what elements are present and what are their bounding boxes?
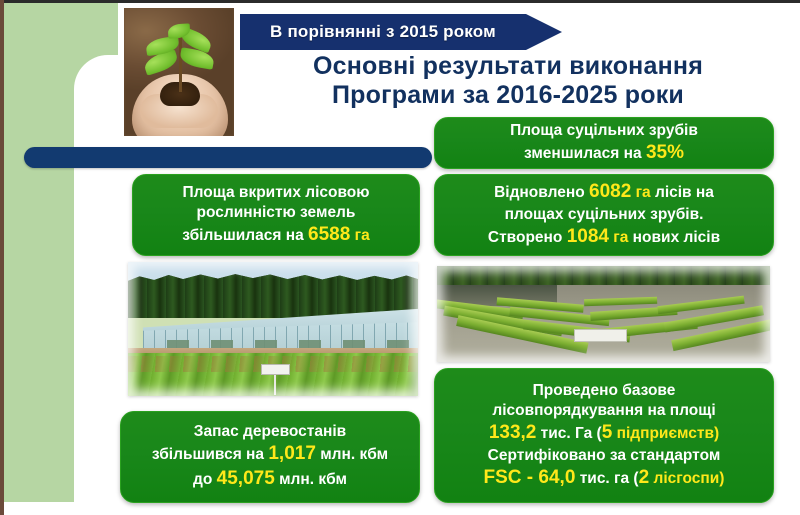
stat-line: площах суцільних зрубів.	[505, 205, 704, 225]
stat-text: Створено	[488, 229, 567, 246]
stat-text: збільшився на	[152, 446, 268, 463]
stat-text: Відновлено	[494, 184, 589, 201]
stat-unit: млн. кбм	[316, 446, 388, 463]
presentation-slide: В порівнянні з 2015 роком Основні резуль…	[0, 0, 800, 515]
stat-value: 45,075	[217, 468, 275, 489]
stat-box-restored-forests: Відновлено 6082 га лісів на площах суціл…	[434, 174, 774, 256]
seedling-stem	[179, 34, 182, 92]
background-treeline	[437, 266, 770, 287]
stat-line: Площа вкритих лісовою	[182, 183, 369, 203]
stat-line: збільшився на 1,017 млн. кбм	[152, 442, 388, 467]
stat-line: FSC - 64,0 тис. га (2 лісгоспи)	[484, 466, 725, 491]
stat-line: 133,2 тис. Га (5 підприємств)	[489, 421, 719, 446]
comparison-banner-body: В порівнянні з 2015 роком	[240, 14, 526, 50]
seedling-rows-photo	[437, 266, 770, 362]
stat-value: FSC - 64,0	[484, 467, 576, 488]
stat-text: підприємств)	[612, 425, 719, 442]
seedling-photo	[124, 8, 234, 136]
stat-text: зменшилася на	[524, 145, 646, 162]
page-title: Основні результати виконання Програми за…	[238, 52, 778, 110]
greenhouse-nursery-photo	[128, 262, 418, 396]
stat-value: 1,017	[268, 443, 316, 464]
stat-value: 133,2	[489, 422, 537, 443]
stat-box-forest-inventory: Проведено базове лісовпорядкування на пл…	[434, 368, 774, 503]
stat-unit: га	[350, 227, 369, 244]
comparison-banner-label: В порівнянні з 2015 роком	[270, 22, 496, 42]
stat-box-timber-stock: Запас деревостанів збільшився на 1,017 м…	[120, 411, 420, 503]
stat-text: лісгоспи)	[649, 470, 724, 487]
field-sign-post	[274, 373, 276, 394]
stat-box-forested-land: Площа вкритих лісовою рослинністю земель…	[132, 174, 420, 256]
stat-count: 2	[639, 467, 650, 488]
stat-line: Проведено базове	[533, 381, 676, 401]
field-sign	[574, 329, 627, 341]
stat-text: Сертифіковано за стандартом	[488, 447, 721, 464]
banner-arrow-icon	[526, 14, 562, 50]
top-edge-strip	[0, 0, 800, 3]
stat-text: до	[193, 471, 217, 488]
stat-line: Сертифіковано за стандартом	[488, 446, 721, 466]
stat-value: 6082	[589, 181, 631, 202]
navy-divider-bar	[24, 147, 432, 168]
stat-unit: га	[631, 184, 650, 201]
stat-count: 5	[602, 422, 613, 443]
stat-text: збільшилася на	[182, 227, 308, 244]
stat-line: лісовпорядкування на площі	[492, 401, 715, 421]
stat-text: площах суцільних зрубів.	[505, 206, 704, 223]
stat-text: лісів на	[651, 184, 714, 201]
forest-treeline	[128, 273, 418, 319]
stat-text: Запас деревостанів	[194, 423, 346, 440]
stat-box-clearcut-area: Площа суцільних зрубів зменшилася на 35%	[434, 117, 774, 169]
stat-line: Відновлено 6082 га лісів на	[494, 180, 714, 205]
stat-unit: га	[609, 229, 628, 246]
stat-text: нових лісів	[628, 229, 720, 246]
stat-line: до 45,075 млн. кбм	[193, 467, 347, 492]
stat-text: Проведено базове	[533, 382, 676, 399]
stat-value: 6588	[308, 224, 350, 245]
page-title-line-2: Програми за 2016-2025 роки	[238, 81, 778, 110]
stat-text: лісовпорядкування на площі	[492, 402, 715, 419]
stat-text: Площа вкритих лісовою	[182, 184, 369, 201]
comparison-banner: В порівнянні з 2015 роком	[240, 14, 562, 50]
stat-value: 35%	[646, 142, 684, 163]
page-title-line-1: Основні результати виконання	[238, 52, 778, 81]
stat-value: 1084	[567, 226, 609, 247]
stat-line: Площа суцільних зрубів	[510, 122, 698, 141]
stat-text: Площа суцільних зрубів	[510, 122, 698, 139]
stat-unit: млн. кбм	[275, 471, 347, 488]
stat-line: рослинністю земель	[197, 203, 356, 223]
stat-text: рослинністю земель	[197, 204, 356, 221]
stat-line: Запас деревостанів	[194, 422, 346, 442]
stat-unit: тис. Га (	[536, 425, 601, 442]
field-sign	[261, 364, 290, 375]
stat-line: Створено 1084 га нових лісів	[488, 225, 720, 250]
stat-line: зменшилася на 35%	[524, 141, 684, 164]
stat-unit: тис. га (	[575, 470, 638, 487]
stat-line: збільшилася на 6588 га	[182, 223, 369, 248]
